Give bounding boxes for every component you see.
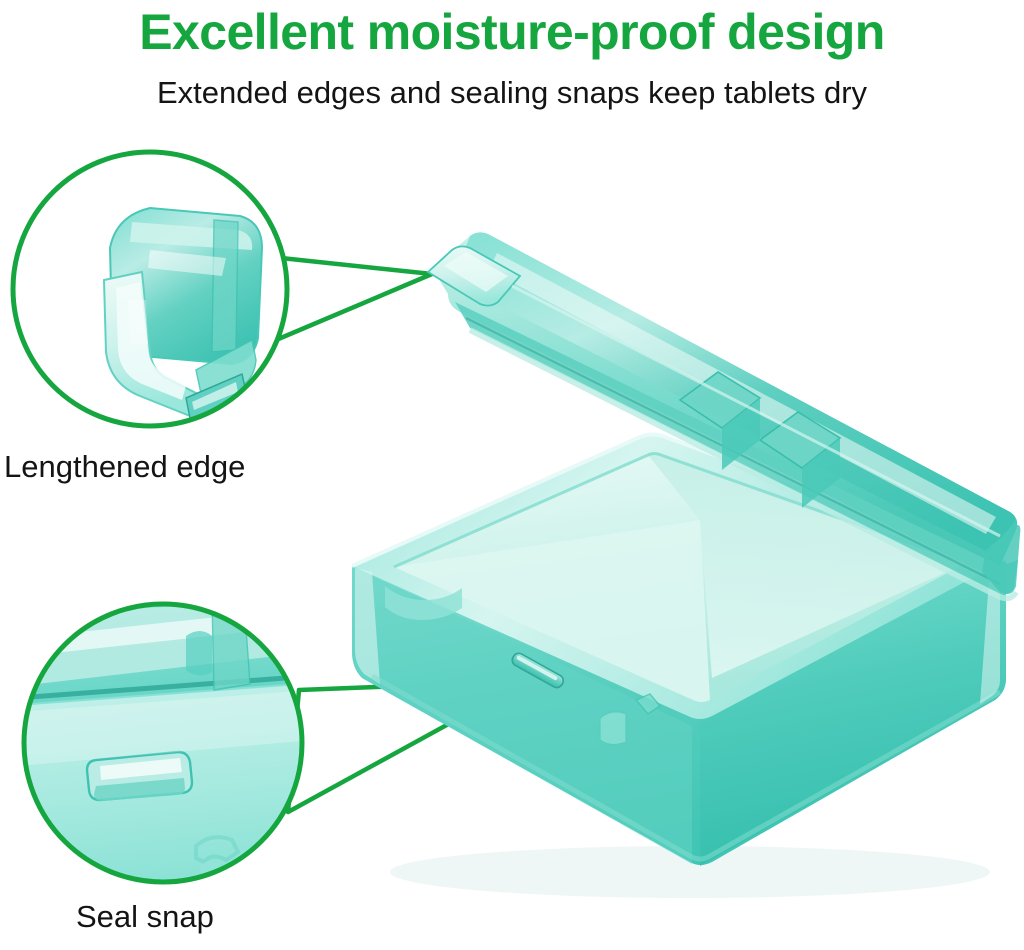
callout-zoom-content-bottom xyxy=(18,600,312,890)
callout-label-seal-snap: Seal snap xyxy=(76,898,214,936)
pill-box-product xyxy=(352,232,1020,898)
product-infographic: Excellent moisture-proof design Extended… xyxy=(0,0,1024,950)
callout-zoom-content-top xyxy=(0,145,310,435)
callout-circle-lengthened-edge xyxy=(0,145,310,435)
leader-line-lengthened-edge xyxy=(276,258,432,340)
zoom-seal-snap-bar xyxy=(87,752,192,801)
callout-label-lengthened-edge: Lengthened edge xyxy=(4,448,245,486)
callout-circle-seal-snap xyxy=(18,600,312,890)
